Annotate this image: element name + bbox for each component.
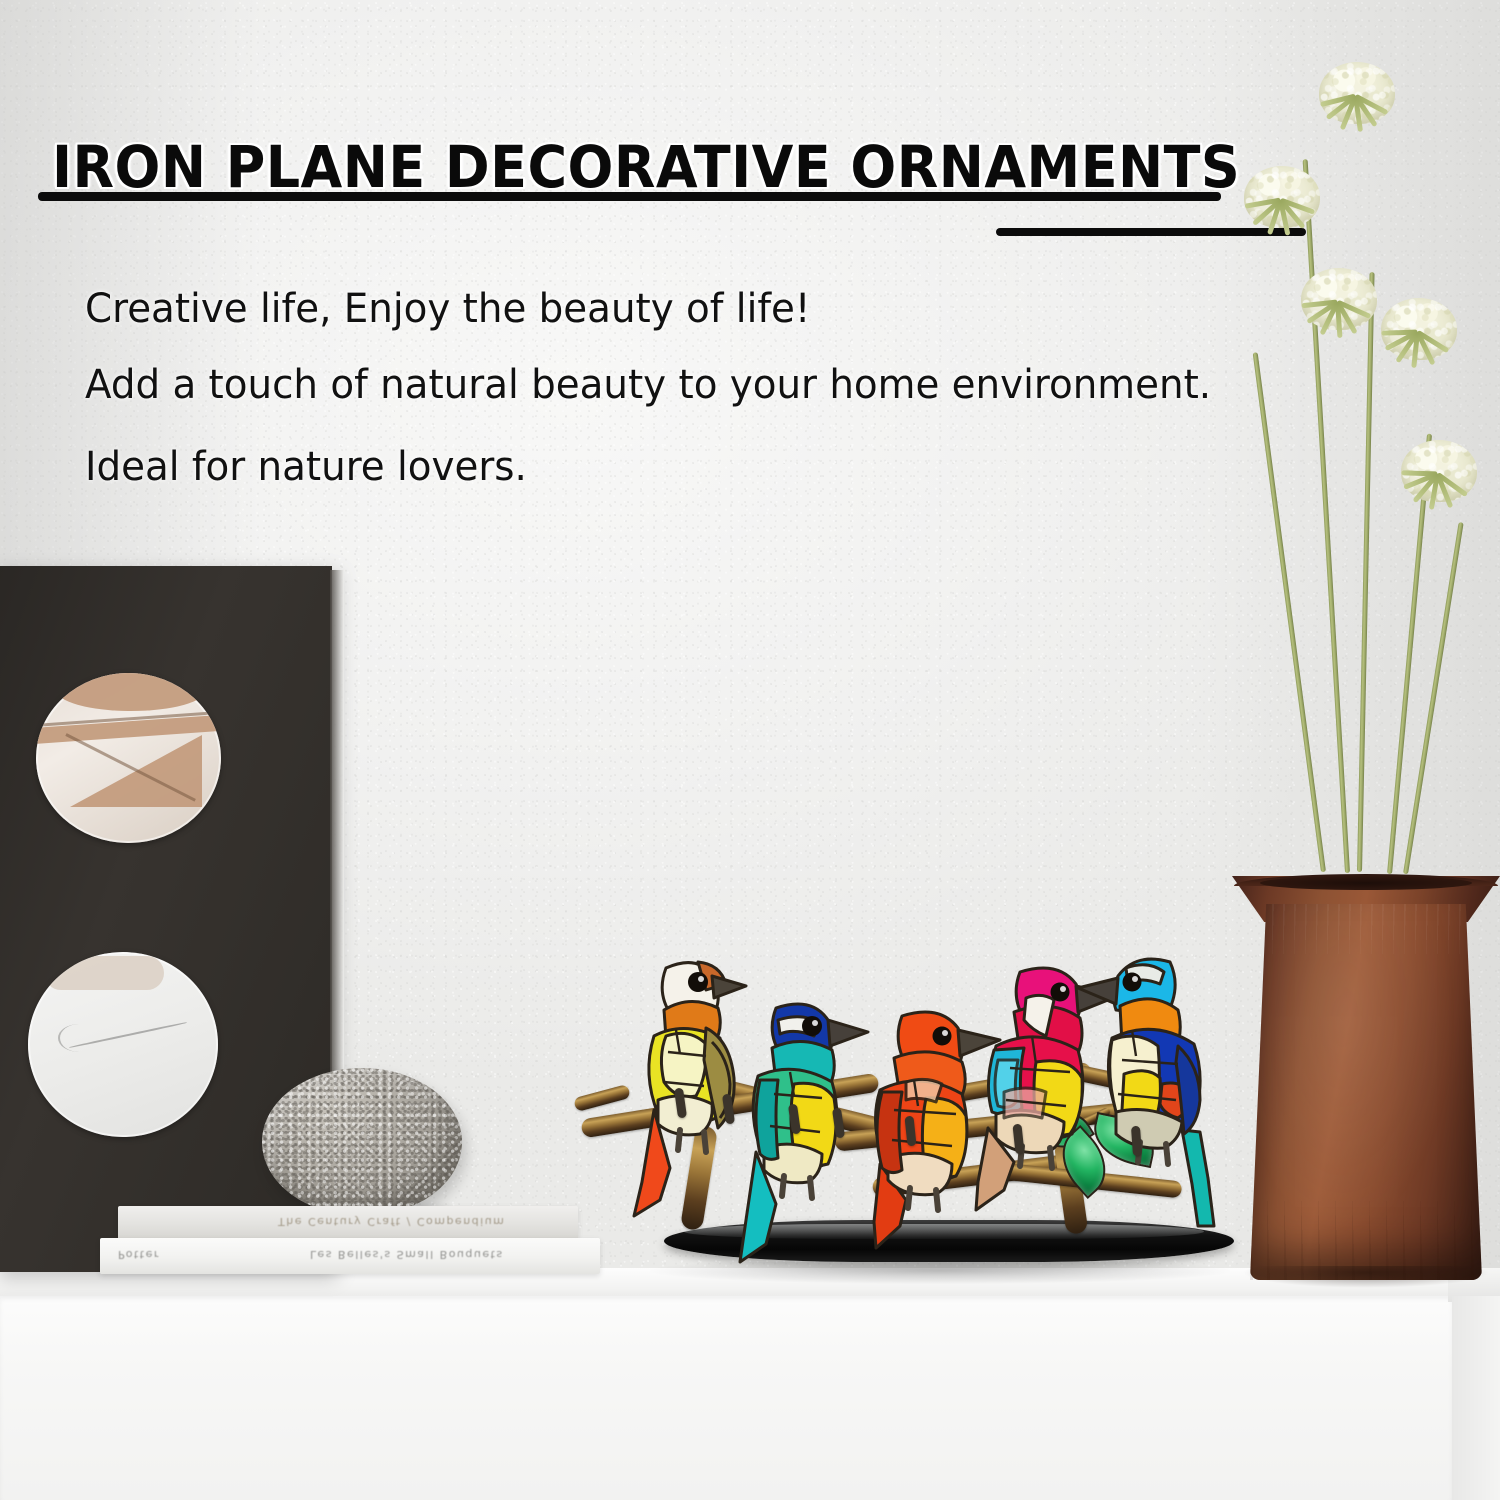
- stained-glass-bird-sculpture: [572, 928, 1232, 1290]
- wooden-vase: [1232, 848, 1500, 1280]
- flower-stem: [1403, 522, 1464, 874]
- bloom-sepals: [1315, 92, 1399, 148]
- tagline-line-3: Ideal for nature lovers.: [85, 444, 527, 490]
- flower-bloom: [1397, 440, 1481, 512]
- title-underline-primary: [38, 192, 1221, 201]
- bloom-sepals: [1377, 328, 1461, 384]
- vase-opening: [1260, 876, 1472, 890]
- bloom-sepals: [1297, 298, 1381, 354]
- page-title: IRON PLANE DECORATIVE ORNAMENTS: [52, 138, 1240, 196]
- shelf-front-panel: [0, 1296, 1452, 1500]
- book-upper-spine-text: The Century Craft / Compendium: [278, 1215, 505, 1228]
- board-cutout-upper: [36, 673, 221, 843]
- vase-base-shadow: [1242, 1266, 1490, 1288]
- product-marketing-image: IRON PLANE DECORATIVE ORNAMENTS Creative…: [0, 0, 1500, 1500]
- flower-bloom: [1297, 268, 1381, 340]
- book-lower: Les Belles's Small Bouquets Potter: [100, 1238, 600, 1274]
- tagline-line-1: Creative life, Enjoy the beauty of life!: [85, 286, 810, 332]
- bloom-sepals: [1397, 470, 1481, 526]
- grey-pebble: [262, 1068, 462, 1216]
- flower-bloom: [1240, 166, 1324, 238]
- board-cutout-lower: [28, 952, 218, 1137]
- bloom-sepals: [1240, 196, 1324, 252]
- bird-5: [1066, 934, 1251, 1254]
- flower-stem: [1253, 352, 1326, 872]
- tagline-line-2: Add a touch of natural beauty to your ho…: [85, 362, 1211, 408]
- dried-flower-arrangement: [1225, 40, 1500, 870]
- vase-body: [1250, 904, 1482, 1280]
- book-upper: The Century Craft / Compendium: [118, 1206, 578, 1240]
- flower-bloom: [1315, 62, 1399, 134]
- flower-stem: [1357, 272, 1375, 872]
- book-lower-spine-text: Les Belles's Small Bouquets: [310, 1248, 504, 1261]
- shelf-right-panel: [1452, 1296, 1500, 1500]
- book-lower-imprint: Potter: [118, 1248, 160, 1261]
- flower-bloom: [1377, 298, 1461, 370]
